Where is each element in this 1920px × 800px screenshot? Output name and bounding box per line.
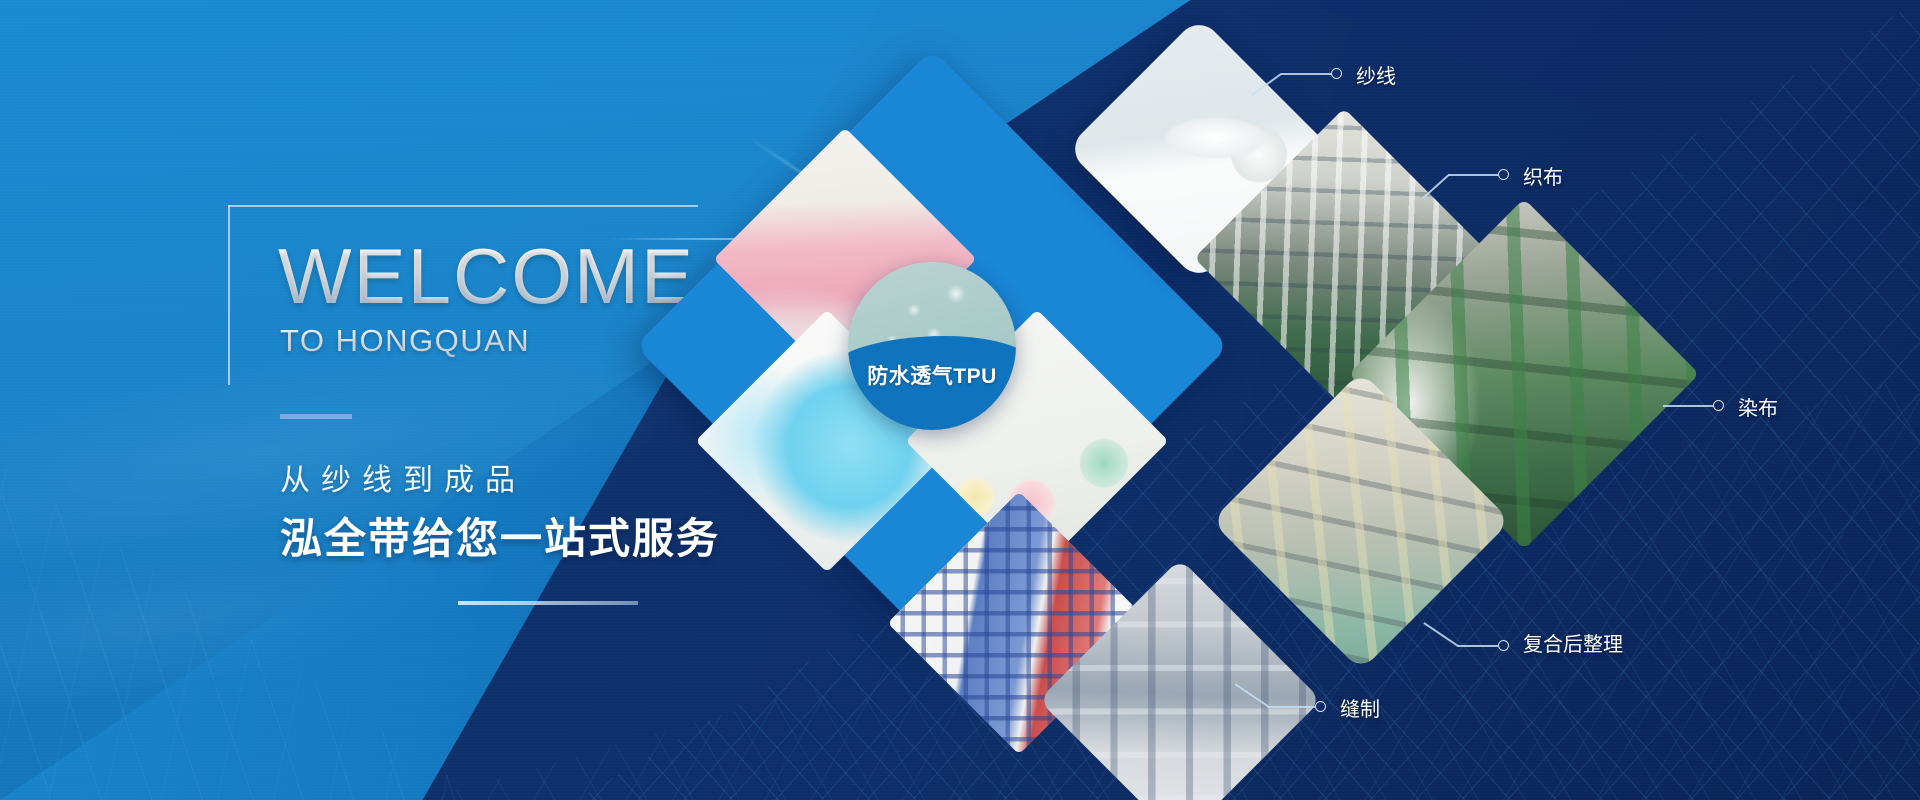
frame-vertical-rule — [228, 205, 230, 385]
status-badge: 防水透气TPU — [848, 262, 1016, 430]
frame-horizontal-rule — [228, 205, 698, 207]
process-label-weaving: 织布 — [1523, 161, 1563, 190]
accent-bar — [280, 414, 352, 419]
process-label-laminating: 复合后整理 — [1523, 628, 1623, 657]
welcome-banner: WELCOME TO HONGQUAN 从纱线到成品 泓全带给您一站式服务 防水… — [0, 0, 1920, 800]
process-label-yarn: 纱线 — [1356, 60, 1396, 89]
page-title: WELCOME — [278, 237, 695, 315]
tagline-chinese: 从纱线到成品 — [280, 455, 526, 499]
process-label-dyeing: 染布 — [1738, 392, 1778, 421]
page-subtitle: TO HONGQUAN — [280, 323, 530, 359]
badge-label: 防水透气TPU — [848, 360, 1016, 390]
process-label-sewing: 缝制 — [1340, 693, 1380, 722]
bottom-divider — [458, 601, 638, 605]
headline-chinese: 泓全带给您一站式服务 — [280, 505, 720, 566]
